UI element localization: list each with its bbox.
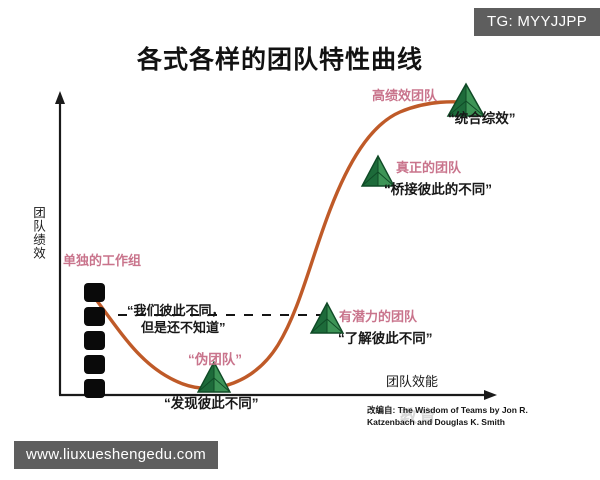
site-url-badge: www.liuxueshengedu.com [14,441,218,469]
x-axis-label: 团队效能 [386,371,438,390]
caption-potential-team: “了解彼此不同” [338,331,433,347]
workgroup-squares-marker [84,283,105,398]
attribution-line-2: Katzenbach and Douglas K. Smith [367,416,547,428]
source-attribution: 改编自: The Wisdom of Teams by Jon R. Katze… [367,404,547,429]
label-real-team: 真正的团队 [396,160,461,175]
page-title: 各式各样的团队特性曲线 [0,40,560,76]
dashed-note-line-1: “我们彼此不同， [127,303,225,318]
chart-canvas: 各式各样的团队特性曲线 团队绩效 团队效能 单独的工作组 “伪团队” “发现彼此… [0,0,600,480]
y-axis-label: 团队绩效 [26,206,44,260]
label-high-performance-team: 高绩效团队 [372,88,437,103]
label-potential-team: 有潜力的团队 [339,309,417,324]
attribution-line-1: 改编自: The Wisdom of Teams by Jon R. [367,404,547,416]
caption-high-performance-team: “统合综效” [448,111,516,127]
label-pseudo-team: “伪团队” [188,352,242,368]
caption-real-team: “桥接彼此的不同” [384,182,492,198]
caption-pseudo-team: “发现彼此不同” [164,396,259,412]
dashed-note-line-2: 但是还不知道” [141,320,226,335]
label-workgroup: 单独的工作组 [63,253,141,268]
y-axis [55,91,65,395]
telegram-handle-badge: TG: MYYJJPP [474,8,600,36]
x-axis [59,390,497,400]
